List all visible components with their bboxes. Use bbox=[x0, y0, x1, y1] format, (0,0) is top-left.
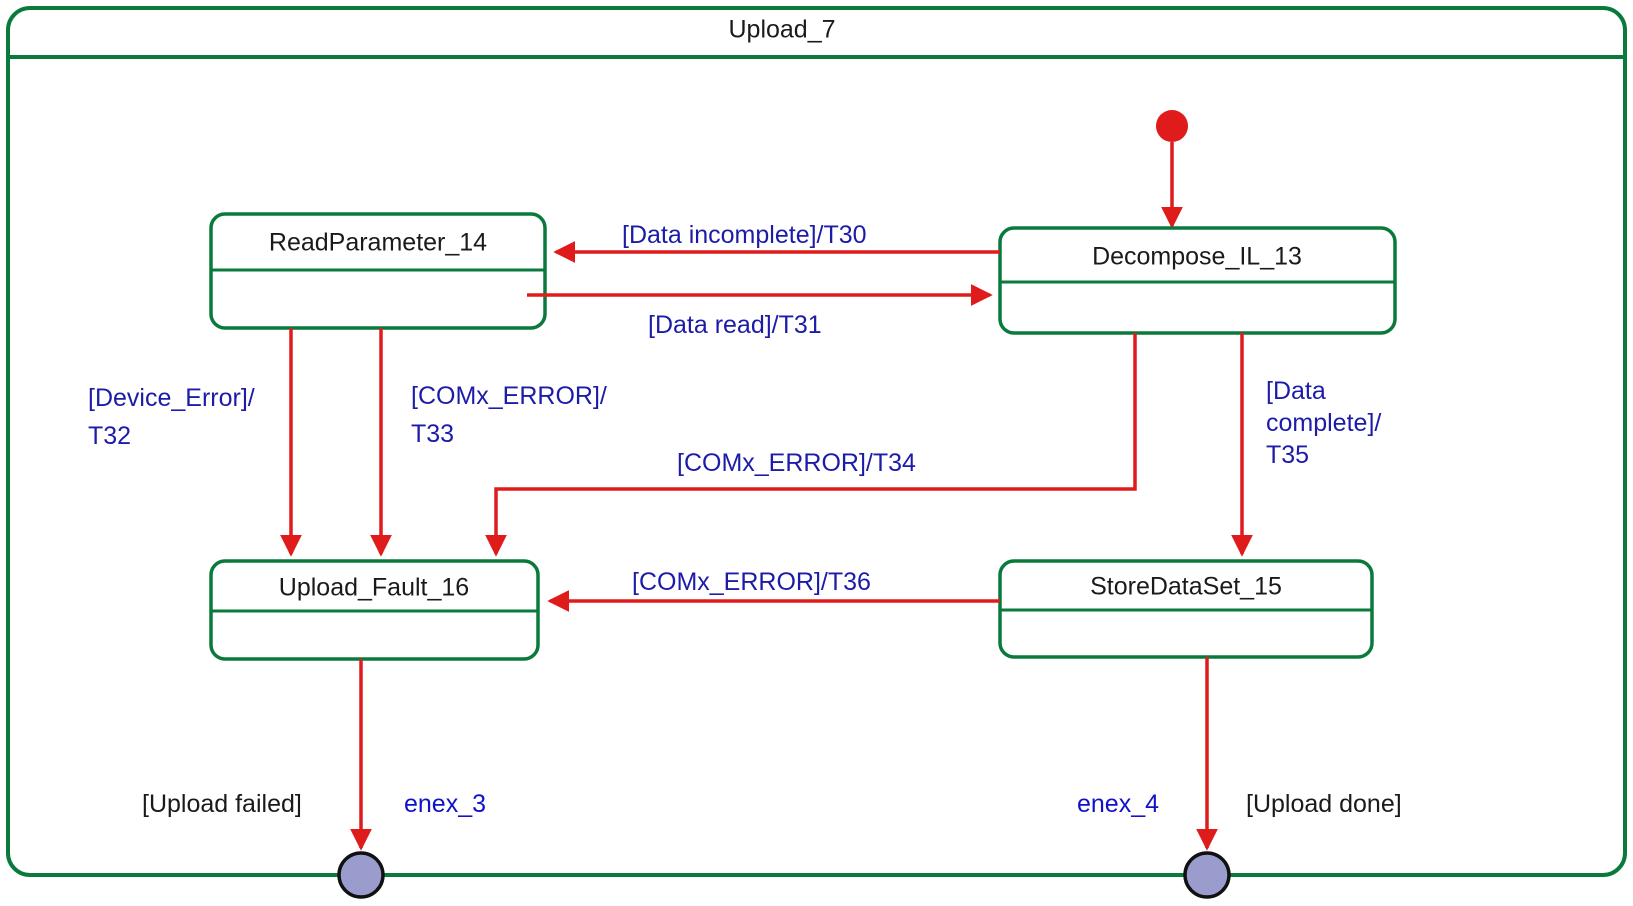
state-store-dataset-15-name: StoreDataSet_15 bbox=[1090, 573, 1282, 601]
exit-point-enex-3[interactable] bbox=[339, 853, 383, 897]
state-diagram-canvas: Upload_7 ReadParameter_14 Decompose_IL_1… bbox=[0, 0, 1633, 906]
composite-state-upload-7[interactable]: Upload_7 bbox=[8, 8, 1625, 875]
state-diagram-svg: Upload_7 ReadParameter_14 Decompose_IL_1… bbox=[0, 0, 1633, 906]
state-read-parameter-14-name: ReadParameter_14 bbox=[269, 229, 487, 257]
state-decompose-il-13[interactable]: Decompose_IL_13 bbox=[1000, 228, 1395, 333]
transition-t33-label-line2: T33 bbox=[411, 420, 454, 448]
transition-t35-label-line2: complete]/ bbox=[1266, 409, 1381, 437]
transition-t32-label-line1: [Device_Error]/ bbox=[88, 384, 255, 412]
state-upload-fault-16[interactable]: Upload_Fault_16 bbox=[211, 561, 538, 659]
composite-state-border bbox=[8, 8, 1625, 875]
composite-state-title: Upload_7 bbox=[728, 16, 835, 44]
transition-t34-label: [COMx_ERROR]/T34 bbox=[677, 449, 916, 477]
state-upload-fault-16-name: Upload_Fault_16 bbox=[279, 574, 469, 602]
enex-3-label: enex_3 bbox=[404, 790, 486, 818]
exit-point-enex-4-circle bbox=[1185, 853, 1229, 897]
transition-t32-label-line2: T32 bbox=[88, 422, 131, 450]
state-store-dataset-15[interactable]: StoreDataSet_15 bbox=[1000, 561, 1372, 657]
exit-point-enex-4[interactable] bbox=[1185, 853, 1229, 897]
upload-failed-note: [Upload failed] bbox=[142, 790, 302, 818]
transition-t35-label-line3: T35 bbox=[1266, 441, 1309, 469]
transition-t36-label: [COMx_ERROR]/T36 bbox=[632, 568, 871, 596]
upload-done-note: [Upload done] bbox=[1246, 790, 1402, 818]
state-decompose-il-13-name: Decompose_IL_13 bbox=[1092, 243, 1302, 271]
exit-point-enex-3-circle bbox=[339, 853, 383, 897]
initial-state-dot bbox=[1156, 110, 1188, 142]
transition-t33-label-line1: [COMx_ERROR]/ bbox=[411, 382, 607, 410]
transition-t30-label: [Data incomplete]/T30 bbox=[622, 221, 867, 249]
initial-pseudostate-node[interactable] bbox=[1156, 110, 1188, 142]
transition-t35-label-line1: [Data bbox=[1266, 377, 1326, 405]
state-read-parameter-14[interactable]: ReadParameter_14 bbox=[211, 214, 545, 328]
transition-t31-label: [Data read]/T31 bbox=[648, 311, 822, 339]
enex-4-label: enex_4 bbox=[1077, 790, 1159, 818]
